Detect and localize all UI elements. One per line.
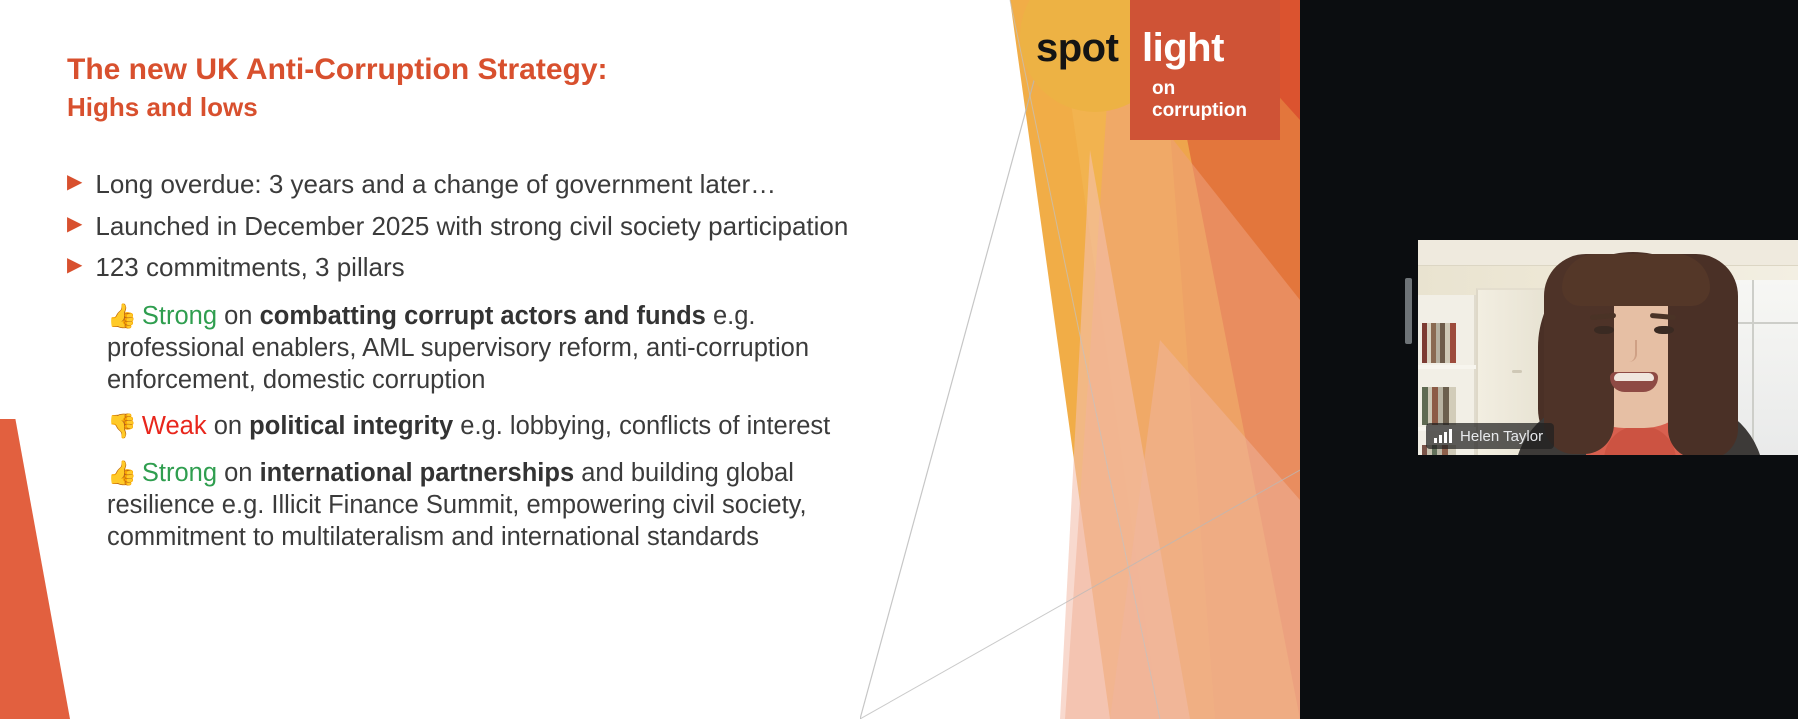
verdict-strong: Strong (142, 302, 217, 330)
subpoint-topic: political integrity (249, 412, 453, 440)
participant-name: Helen Taylor (1460, 428, 1543, 445)
books-row (1422, 323, 1456, 363)
subpoint-item: 👎Weak on political integrity e.g. lobbyi… (107, 410, 897, 442)
bullet-text: Long overdue: 3 years and a change of go… (95, 168, 776, 201)
verdict-weak: Weak (142, 412, 207, 440)
meeting-screen: spot light on corruption The new UK Anti… (0, 0, 1798, 719)
slide-bullet-list: ▶ Long overdue: 3 years and a change of … (67, 168, 897, 293)
slide-subpoint-list: 👍Strong on combatting corrupt actors and… (107, 300, 897, 567)
subpoint-connector: on (217, 459, 260, 487)
person-fringe (1562, 254, 1710, 306)
spotlight-on-corruption-logo: spot light on corruption (1030, 0, 1250, 140)
shelf-edge (1418, 365, 1476, 369)
bullet-text: 123 commitments, 3 pillars (95, 251, 404, 284)
subpoint-item: 👍Strong on international partnerships an… (107, 457, 897, 553)
books-row (1422, 387, 1456, 425)
shared-slide[interactable]: spot light on corruption The new UK Anti… (0, 0, 1300, 719)
bullet-item: ▶ Launched in December 2025 with strong … (67, 210, 897, 243)
subpoint-topic: combatting corrupt actors and funds (260, 302, 706, 330)
logo-word-corruption: corruption (1152, 100, 1247, 122)
verdict-strong: Strong (142, 459, 217, 487)
person-eye-left (1594, 326, 1614, 334)
logo-word-spot: spot (1036, 26, 1118, 71)
triangle-bullet-icon: ▶ (67, 212, 82, 237)
signal-bars-icon (1434, 429, 1452, 443)
subpoint-topic: international partnerships (260, 459, 575, 487)
window-frame-vertical (1752, 280, 1754, 455)
subpoint-connector: on (217, 302, 260, 330)
participant-name-badge: Helen Taylor (1426, 423, 1554, 449)
slide-title: The new UK Anti-Corruption Strategy: (67, 52, 767, 89)
bottom-left-wedge (0, 419, 70, 719)
subpoint-item: 👍Strong on combatting corrupt actors and… (107, 300, 897, 396)
triangle-bullet-icon: ▶ (67, 253, 82, 278)
person-teeth (1614, 373, 1654, 381)
subpoint-detail: e.g. lobbying, conflicts of interest (453, 412, 830, 440)
logo-word-light: light (1142, 26, 1224, 71)
bullet-item: ▶ 123 commitments, 3 pillars (67, 251, 897, 284)
video-tile-helen-taylor[interactable]: Helen Taylor (1418, 240, 1798, 455)
wardrobe-handle (1512, 370, 1522, 373)
thumbs-up-emoji: 👍 (107, 303, 137, 330)
person-eye-right (1654, 326, 1674, 334)
thumbs-up-emoji: 👍 (107, 460, 137, 487)
bullet-text: Launched in December 2025 with strong ci… (95, 210, 848, 243)
thumbs-down-emoji: 👎 (107, 413, 137, 440)
logo-word-on: on (1152, 78, 1175, 100)
bullet-item: ▶ Long overdue: 3 years and a change of … (67, 168, 897, 201)
subpoint-connector: on (207, 412, 250, 440)
triangle-bullet-icon: ▶ (67, 170, 82, 195)
video-scroll-thumb[interactable] (1405, 278, 1412, 344)
slide-subtitle: Highs and lows (67, 92, 767, 123)
